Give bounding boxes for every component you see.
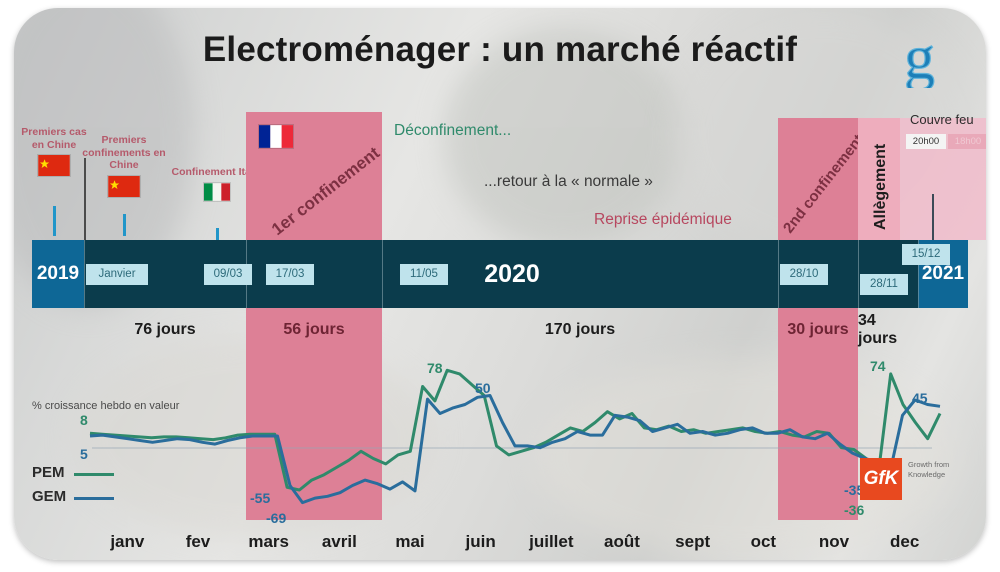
annotation-deconfinement: Déconfinement... bbox=[394, 122, 511, 140]
duration-76: 76 jours bbox=[84, 308, 246, 352]
timeline-divider bbox=[84, 240, 85, 308]
block-label: Allègement bbox=[872, 144, 890, 230]
growth-chart: % croissance hebdo en valeur 8 5 -55 -69… bbox=[32, 352, 968, 520]
chart-plot bbox=[32, 352, 968, 520]
date-chip-1105[interactable]: 11/05 bbox=[400, 264, 448, 285]
datalabel-pem-start: 8 bbox=[80, 412, 88, 428]
datalabel-pem-peak-dec: 74 bbox=[870, 358, 886, 374]
duration-34: 34 jours bbox=[858, 308, 918, 352]
legend-label-pem: PEM bbox=[32, 464, 65, 481]
timeline-divider bbox=[382, 240, 383, 308]
duration-30: 30 jours bbox=[778, 308, 858, 352]
month-label-oct: oct bbox=[728, 532, 799, 552]
date-chip-1512[interactable]: 15/12 bbox=[902, 244, 950, 265]
couvre-feu-title: Couvre feu bbox=[910, 112, 974, 127]
year-2020: 2020 bbox=[452, 240, 572, 308]
date-chip-janvier[interactable]: Janvier bbox=[86, 264, 148, 285]
month-label-janv: janv bbox=[92, 532, 163, 552]
month-label-mai: mai bbox=[375, 532, 446, 552]
svg-text:g: g bbox=[904, 26, 935, 88]
top-annotation-band: Electroménager : un marché réactif g Pre… bbox=[14, 8, 986, 238]
block-second-confinement: 2nd confinement bbox=[778, 118, 858, 240]
infographic-card: Electroménager : un marché réactif g Pre… bbox=[14, 8, 986, 560]
block-premier-confinement: 1er confinement bbox=[246, 112, 382, 240]
month-label-sept: sept bbox=[657, 532, 728, 552]
month-label-dec: dec bbox=[869, 532, 940, 552]
duration-56: 56 jours bbox=[246, 308, 382, 352]
annotation-reprise-epidemique: Reprise épidémique bbox=[594, 211, 732, 229]
timeline-tick-janvier bbox=[84, 158, 86, 240]
year-2019: 2019 bbox=[32, 240, 84, 308]
event-label: Premiers confinements en Chine bbox=[74, 134, 174, 172]
timeline-tick-1512 bbox=[932, 194, 934, 240]
datalabel-pem-nov-trough: -36 bbox=[844, 502, 864, 518]
event-stem bbox=[53, 206, 56, 236]
event-premiers-confinements-chine: Premiers confinements en Chine bbox=[74, 134, 174, 198]
datalabel-gem-peak-dec: 45 bbox=[912, 390, 928, 406]
timeline-divider bbox=[778, 240, 779, 308]
legend-swatch-gem bbox=[74, 497, 114, 500]
month-label-juin: juin bbox=[445, 532, 516, 552]
month-label-avril: avril bbox=[304, 532, 375, 552]
block-label: 1er confinement bbox=[268, 143, 384, 240]
gfk-logo: GfK Growth from Knowledge bbox=[860, 458, 956, 502]
month-label-mars: mars bbox=[233, 532, 304, 552]
datalabel-pem-peak-mai: 78 bbox=[427, 360, 443, 376]
annotation-retour-normale: ...retour à la « normale » bbox=[484, 173, 653, 191]
italy-flag bbox=[203, 182, 231, 202]
date-chip-2811[interactable]: 28/11 bbox=[860, 274, 908, 295]
durations-row: 76 jours 56 jours 170 jours 30 jours 34 … bbox=[32, 308, 968, 352]
gfk-tagline: Growth from Knowledge bbox=[908, 460, 956, 479]
timeline-bar: 2019 2020 2021 Janvier 09/03 17/03 11/05… bbox=[32, 240, 968, 308]
date-chip-0903[interactable]: 09/03 bbox=[204, 264, 252, 285]
month-label-août: août bbox=[587, 532, 658, 552]
duration-170: 170 jours bbox=[382, 308, 778, 352]
datalabel-gem-min: -69 bbox=[266, 510, 286, 526]
china-flag bbox=[107, 175, 141, 198]
chart-y-caption: % croissance hebdo en valeur bbox=[32, 400, 179, 412]
block-label: 2nd confinement bbox=[780, 131, 867, 236]
timeline-divider bbox=[858, 240, 859, 308]
month-label-fev: fev bbox=[163, 532, 234, 552]
couvre-feu-slot-18h: 18h00 bbox=[948, 134, 986, 149]
month-axis: janvfevmarsavrilmaijuinjuilletaoûtseptoc… bbox=[32, 532, 968, 560]
datalabel-gem-peak-mai: 50 bbox=[475, 380, 491, 396]
gfk-mark: GfK bbox=[860, 458, 902, 500]
datalabel-gem-start: 5 bbox=[80, 446, 88, 462]
month-label-nov: nov bbox=[799, 532, 870, 552]
month-label-juillet: juillet bbox=[516, 532, 587, 552]
block-allegement: Allègement bbox=[858, 118, 900, 240]
china-flag bbox=[37, 154, 71, 177]
couvre-feu-slot-20h: 20h00 bbox=[906, 134, 946, 149]
page-title: Electroménager : un marché réactif bbox=[14, 30, 986, 70]
france-flag bbox=[258, 124, 294, 149]
g-logo-icon: g bbox=[900, 26, 956, 88]
legend-swatch-pem bbox=[74, 473, 114, 476]
event-stem bbox=[123, 214, 126, 236]
datalabel-gem-trough: -55 bbox=[250, 490, 270, 506]
infographic-stage: Electroménager : un marché réactif g Pre… bbox=[0, 0, 1000, 572]
legend-label-gem: GEM bbox=[32, 488, 66, 505]
date-chip-1703[interactable]: 17/03 bbox=[266, 264, 314, 285]
date-chip-2810[interactable]: 28/10 bbox=[780, 264, 828, 285]
